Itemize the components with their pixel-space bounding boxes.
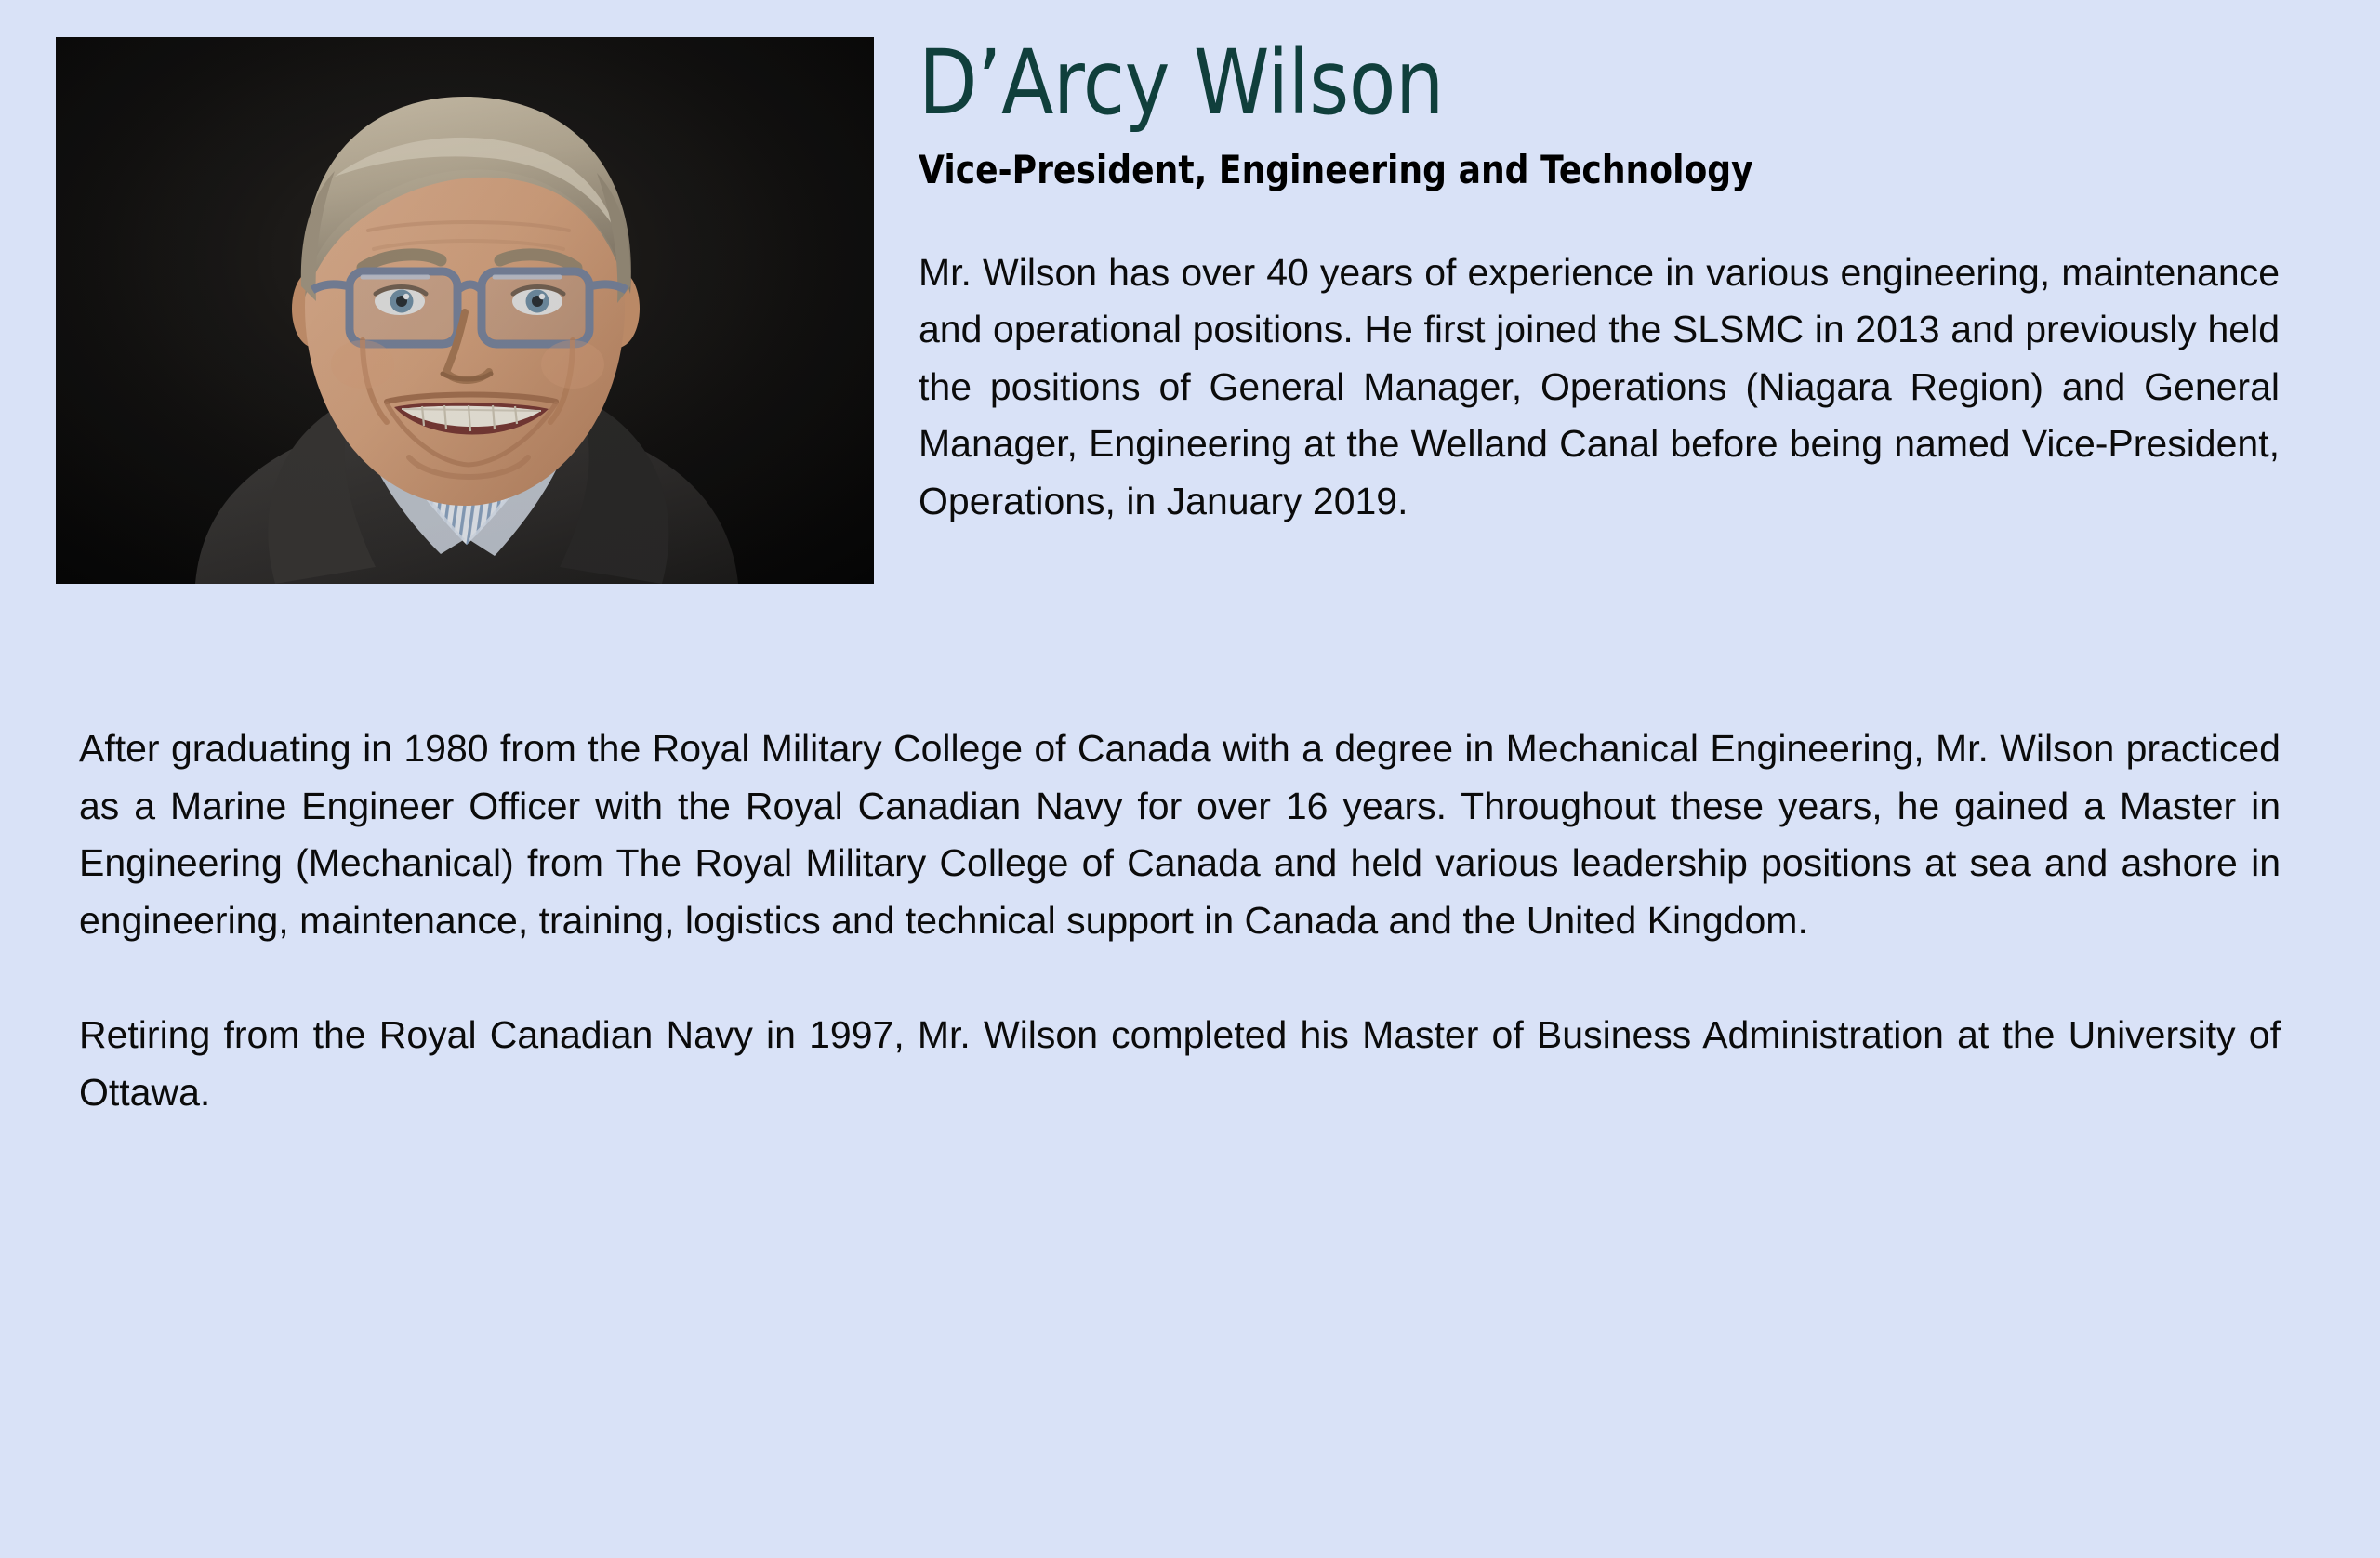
profile-text-block: D’Arcy Wilson Vice-President, Engineerin… bbox=[919, 37, 2280, 530]
bio-paragraph-1: After graduating in 1980 from the Royal … bbox=[79, 720, 2281, 949]
profile-photo bbox=[56, 37, 874, 584]
bio-body: After graduating in 1980 from the Royal … bbox=[79, 720, 2281, 1121]
bio-page: D’Arcy Wilson Vice-President, Engineerin… bbox=[0, 0, 2380, 1558]
profile-header: D’Arcy Wilson Vice-President, Engineerin… bbox=[0, 0, 2380, 706]
page-title: D’Arcy Wilson bbox=[919, 37, 2089, 130]
portrait-illustration bbox=[56, 37, 874, 584]
job-title: Vice-President, Engineering and Technolo… bbox=[919, 147, 2089, 192]
bio-paragraph-2: Retiring from the Royal Canadian Navy in… bbox=[79, 1007, 2281, 1121]
bio-intro-paragraph: Mr. Wilson has over 40 years of experien… bbox=[919, 244, 2280, 531]
